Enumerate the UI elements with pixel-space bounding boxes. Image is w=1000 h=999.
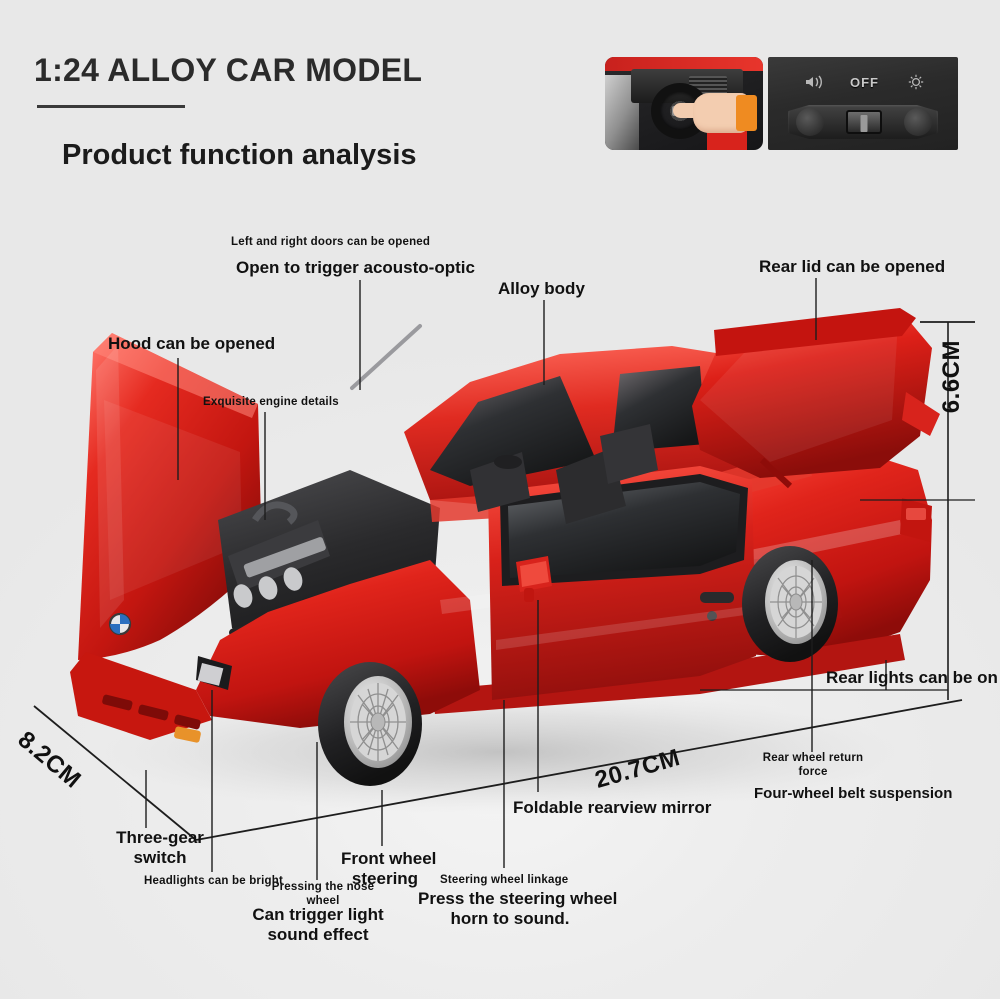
- product-infographic: 1:24 ALLOY CAR MODEL Product function an…: [0, 0, 1000, 999]
- label-foldable-mirror: Foldable rearview mirror: [513, 798, 711, 818]
- door-handle: [700, 592, 734, 603]
- dimension-height: 6.6CM: [938, 340, 966, 413]
- label-four-wheel-suspension: Four-wheel belt suspension: [754, 785, 952, 803]
- label-hood: Hood can be opened: [108, 334, 275, 354]
- label-alloy-body: Alloy body: [498, 279, 585, 299]
- wheel-front: [318, 662, 422, 786]
- label-front-wheel-steering: Front wheel steering: [341, 849, 429, 889]
- label-doors-acousto-optic: Open to trigger acousto-optic: [236, 258, 475, 278]
- antenna: [352, 326, 420, 388]
- wheel-rear: [742, 546, 838, 662]
- label-engine-details: Exquisite engine details: [203, 396, 339, 410]
- label-light-sound-effect: Can trigger light sound effect: [243, 905, 393, 945]
- label-three-gear-switch: Three-gear switch: [104, 828, 216, 868]
- label-doors-small: Left and right doors can be opened: [231, 236, 430, 250]
- label-headlights: Headlights can be bright: [144, 875, 283, 889]
- label-rear-wheel-return: Rear wheel return force: [760, 752, 866, 779]
- label-rear-lights: Rear lights can be on: [826, 668, 998, 688]
- label-horn-sound: Press the steering wheel horn to sound.: [418, 889, 602, 929]
- label-rear-lid: Rear lid can be opened: [759, 257, 945, 277]
- label-steering-linkage: Steering wheel linkage: [440, 874, 568, 888]
- steering-wheel-interior: [494, 455, 522, 469]
